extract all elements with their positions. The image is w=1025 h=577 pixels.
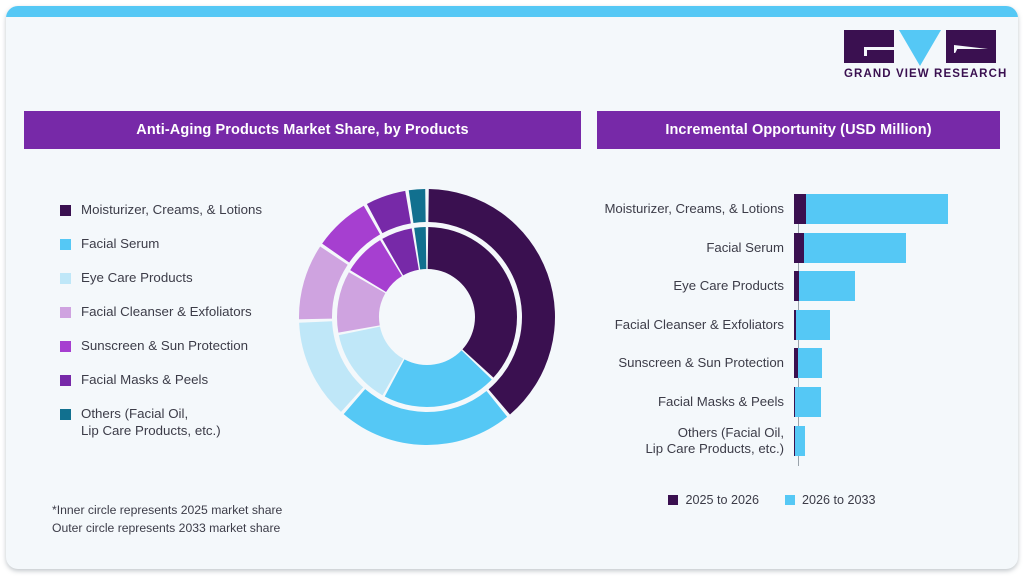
bar-track xyxy=(794,426,982,456)
bar-track xyxy=(794,387,982,417)
legend-item: Eye Care Products xyxy=(60,270,330,287)
bar-segment xyxy=(798,348,822,378)
legend-swatch-icon xyxy=(60,273,71,284)
legend-swatch-icon xyxy=(60,341,71,352)
legend-swatch-icon xyxy=(60,375,71,386)
donut-svg xyxy=(298,188,556,446)
bar-segment xyxy=(806,194,948,224)
legend-swatch-icon xyxy=(60,307,71,318)
right-panel-title: Incremental Opportunity (USD Million) xyxy=(597,111,1000,149)
legend-item: Others (Facial Oil, Lip Care Products, e… xyxy=(60,406,330,439)
incremental-opportunity-bar-chart: Moisturizer, Creams, & LotionsFacial Ser… xyxy=(562,194,982,474)
logo-text: GRAND VIEW RESEARCH xyxy=(844,68,996,80)
bar-row: Facial Masks & Peels xyxy=(562,387,982,417)
bar-track xyxy=(794,194,982,224)
bar-legend-item: 2026 to 2033 xyxy=(785,493,876,507)
legend-item-label: Facial Serum xyxy=(81,236,159,253)
infographic-root: GRAND VIEW RESEARCH Anti-Aging Products … xyxy=(0,0,1025,577)
grand-view-research-logo: GRAND VIEW RESEARCH xyxy=(844,30,996,85)
legend-item-label: Facial Masks & Peels xyxy=(81,372,208,389)
legend-swatch-icon xyxy=(60,205,71,216)
bar-row: Eye Care Products xyxy=(562,271,982,301)
bar-legend-label: 2025 to 2026 xyxy=(685,493,759,507)
bar-track xyxy=(794,348,982,378)
bar-row-label: Sunscreen & Sun Protection xyxy=(562,355,794,371)
bar-row-label: Facial Masks & Peels xyxy=(562,394,794,410)
donut-footnote: *Inner circle represents 2025 market sha… xyxy=(52,502,282,537)
bar-track xyxy=(794,310,982,340)
bar-row-label: Facial Serum xyxy=(562,240,794,256)
logo-marks xyxy=(844,30,996,66)
bar-segment xyxy=(794,194,806,224)
bar-track xyxy=(794,233,982,263)
top-accent-bar xyxy=(6,6,1018,17)
market-share-donut-chart xyxy=(298,188,556,446)
donut-segment xyxy=(409,189,426,223)
logo-g-notch-vertical xyxy=(864,47,867,56)
legend-item: Facial Cleanser & Exfoliators xyxy=(60,304,330,321)
bar-legend-item: 2025 to 2026 xyxy=(668,493,759,507)
bar-row-label: Others (Facial Oil, Lip Care Products, e… xyxy=(562,425,794,457)
logo-r-block-icon xyxy=(946,30,996,63)
legend-item: Facial Masks & Peels xyxy=(60,372,330,389)
bar-row-label: Moisturizer, Creams, & Lotions xyxy=(562,201,794,217)
bar-track xyxy=(794,271,982,301)
bar-row: Facial Serum xyxy=(562,233,982,263)
bar-row: Facial Cleanser & Exfoliators xyxy=(562,310,982,340)
legend-item: Facial Serum xyxy=(60,236,330,253)
logo-g-notch-horizontal xyxy=(864,47,894,50)
bar-legend-swatch-icon xyxy=(668,495,678,505)
bar-legend-swatch-icon xyxy=(785,495,795,505)
legend-item-label: Moisturizer, Creams, & Lotions xyxy=(81,202,262,219)
bar-row-label: Eye Care Products xyxy=(562,278,794,294)
bar-segment xyxy=(796,310,830,340)
product-legend: Moisturizer, Creams, & LotionsFacial Ser… xyxy=(60,202,330,439)
infographic-card: GRAND VIEW RESEARCH Anti-Aging Products … xyxy=(6,6,1018,569)
legend-item-label: Sunscreen & Sun Protection xyxy=(81,338,248,355)
bar-row-label: Facial Cleanser & Exfoliators xyxy=(562,317,794,333)
logo-g-block-icon xyxy=(844,30,894,63)
bar-segment xyxy=(794,233,804,263)
bar-legend-label: 2026 to 2033 xyxy=(802,493,876,507)
bar-row: Moisturizer, Creams, & Lotions xyxy=(562,194,982,224)
bar-segment xyxy=(795,426,805,456)
legend-swatch-icon xyxy=(60,409,71,420)
logo-r-arrow-fill xyxy=(955,49,989,54)
bar-row: Sunscreen & Sun Protection xyxy=(562,348,982,378)
bar-chart-legend: 2025 to 20262026 to 2033 xyxy=(562,493,982,507)
legend-item-label: Others (Facial Oil, Lip Care Products, e… xyxy=(81,406,221,439)
bar-row: Others (Facial Oil, Lip Care Products, e… xyxy=(562,425,982,457)
legend-item-label: Eye Care Products xyxy=(81,270,193,287)
left-panel-title: Anti-Aging Products Market Share, by Pro… xyxy=(24,111,581,149)
bar-segment xyxy=(795,387,821,417)
legend-swatch-icon xyxy=(60,239,71,250)
legend-item-label: Facial Cleanser & Exfoliators xyxy=(81,304,252,321)
donut-inner-ring-2025 xyxy=(337,227,517,407)
logo-v-triangle-icon xyxy=(899,30,941,66)
bar-segment xyxy=(799,271,855,301)
legend-item: Moisturizer, Creams, & Lotions xyxy=(60,202,330,219)
bar-segment xyxy=(804,233,906,263)
legend-item: Sunscreen & Sun Protection xyxy=(60,338,330,355)
